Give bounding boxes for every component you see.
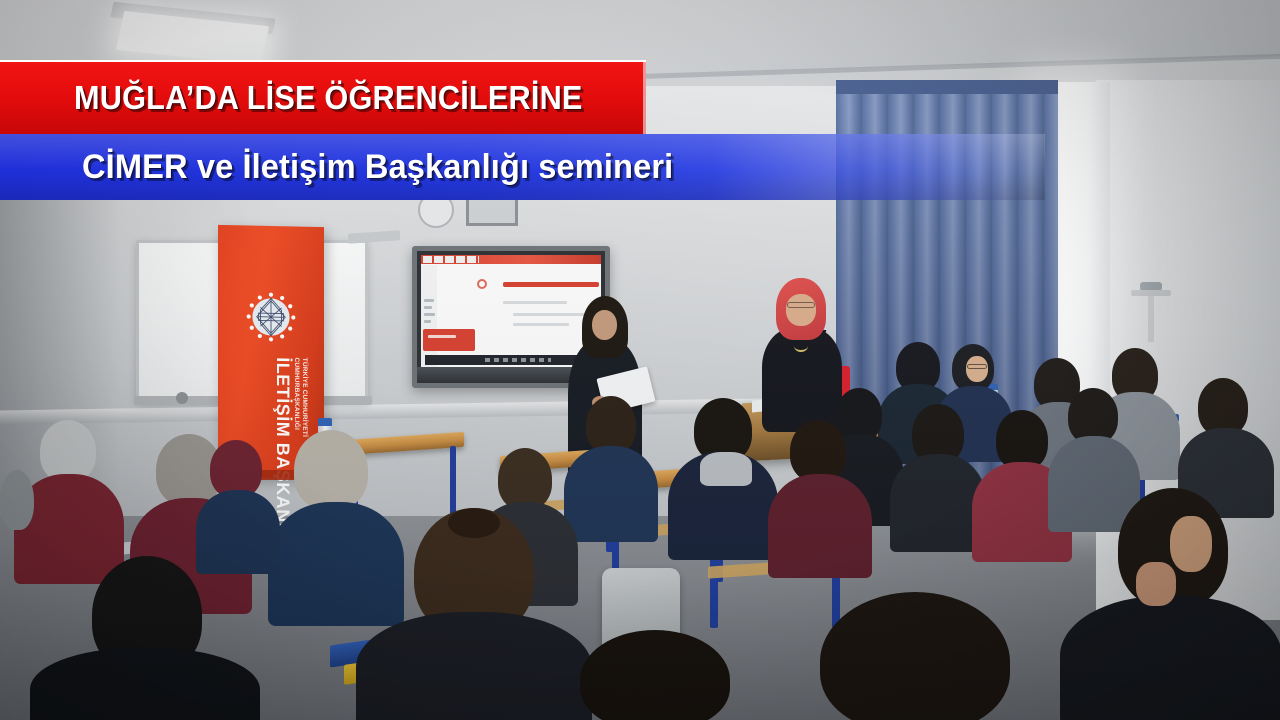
rollup-line2: CUMHURBAŞKANLIĞI (293, 357, 300, 430)
sidebar-line (424, 306, 432, 309)
glasses-icon (967, 364, 987, 369)
whiteboard-knob (176, 392, 188, 404)
page-text-line (513, 323, 569, 326)
page-icon (477, 279, 487, 289)
page-text-line (503, 301, 567, 304)
rollup-line1: TÜRKİYE CUMHURİYETİ (301, 358, 308, 437)
rollup-title-line1: İLETİŞİM (273, 357, 293, 437)
face (1170, 516, 1212, 572)
kicker-text: MUĞLA’DA LİSE ÖĞRENCİLERİNE (74, 70, 632, 126)
page-accent-line (503, 282, 599, 287)
wall-picture-frame (466, 196, 518, 226)
hoodie-collar (700, 452, 752, 486)
headline-text: CİMER ve İletişim Başkanlığı semineri (82, 142, 1042, 192)
resting-hand (1136, 562, 1176, 606)
browser-tabs (423, 256, 479, 263)
sidebar-line (424, 299, 434, 302)
page-sidebar (421, 265, 437, 367)
taskbar-icons (485, 358, 551, 362)
glasses-icon (787, 302, 815, 308)
wall-bracket-stem (1148, 296, 1154, 342)
hair-bun (448, 508, 500, 538)
sidebar-line (424, 313, 435, 316)
cumhurbaskanligi-yildiz-amblem-icon (240, 285, 302, 348)
speaker-standing (756, 278, 848, 428)
page-badge (423, 329, 475, 351)
sidebar-line (424, 320, 431, 323)
news-photo-stage: TÜRKİYE CUMHURİYETİ CUMHURBAŞKANLIĞI İLE… (0, 0, 1280, 720)
